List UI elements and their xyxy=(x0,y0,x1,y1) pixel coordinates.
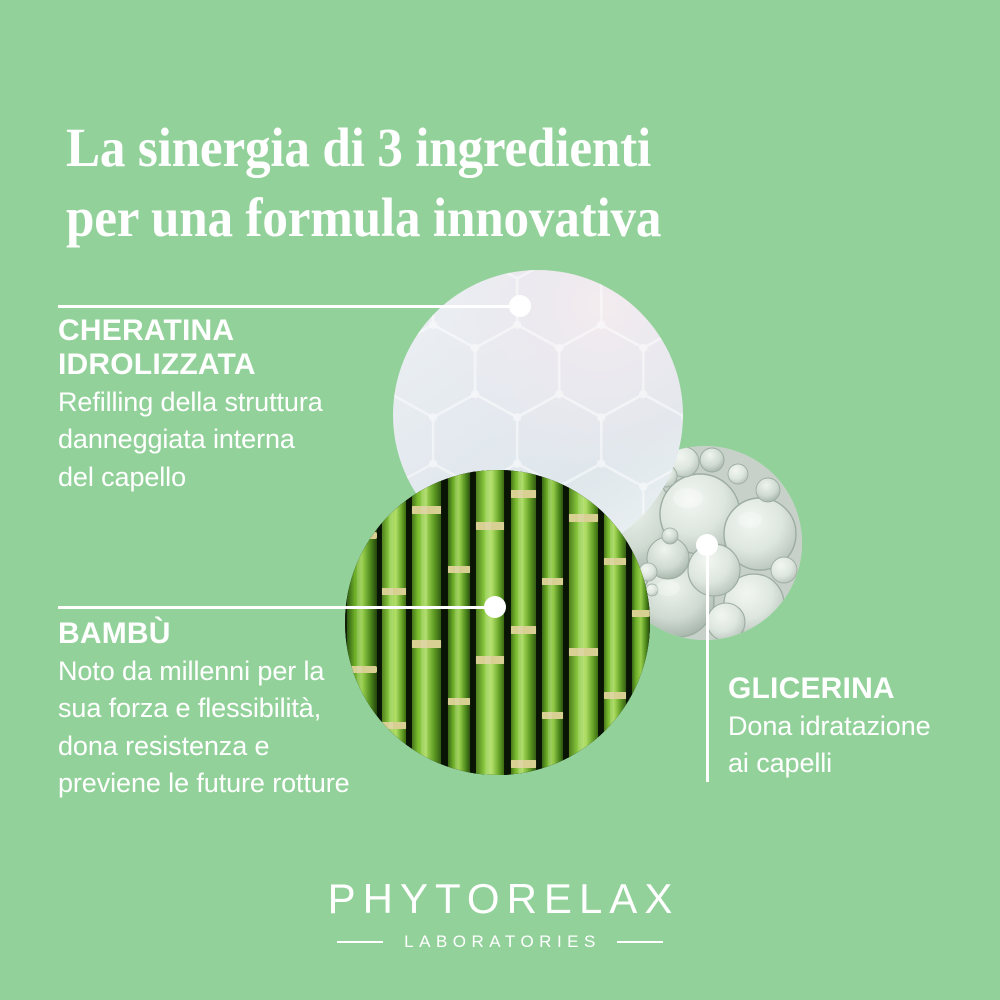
ingredient-title-glicerina: GLICERINA xyxy=(728,672,968,706)
ingredient-body-glicerina: Dona idratazione ai capelli xyxy=(728,708,968,783)
cheratina-leader-line xyxy=(58,305,520,308)
cheratina-leader-dot xyxy=(509,295,531,317)
ingredients-infographic-poster: La sinergia di 3 ingredienti per una for… xyxy=(0,0,1000,1000)
glicerina-leader-dot xyxy=(696,534,718,556)
ingredient-block-glicerina: GLICERINA Dona idratazione ai capelli xyxy=(728,672,968,783)
glicerina-leader-line xyxy=(706,545,709,782)
ingredient-block-bambu: BAMBÙ Noto da millenni per la sua forza … xyxy=(58,617,398,803)
brand-subtitle-row: LABORATORIES xyxy=(0,933,1000,950)
ingredient-title-cheratina: CHERATINA IDROLIZZATA xyxy=(58,314,388,382)
brand-rule-left xyxy=(337,941,383,943)
bambu-leader-line xyxy=(58,606,495,609)
ingredient-title-bambu: BAMBÙ xyxy=(58,617,398,651)
brand-name: PHYTORELAX xyxy=(0,878,1000,920)
brand-rule-right xyxy=(617,941,663,943)
brand-logo: PHYTORELAX LABORATORIES xyxy=(0,878,1000,950)
ingredient-block-cheratina: CHERATINA IDROLIZZATA Refilling della st… xyxy=(58,314,388,496)
page-title: La sinergia di 3 ingredienti per una for… xyxy=(66,113,810,254)
bambu-leader-dot xyxy=(484,596,506,618)
ingredient-body-cheratina: Refilling della struttura danneggiata in… xyxy=(58,384,388,497)
ingredient-body-bambu: Noto da millenni per la sua forza e fles… xyxy=(58,653,398,803)
brand-subtitle: LABORATORIES xyxy=(399,933,601,950)
